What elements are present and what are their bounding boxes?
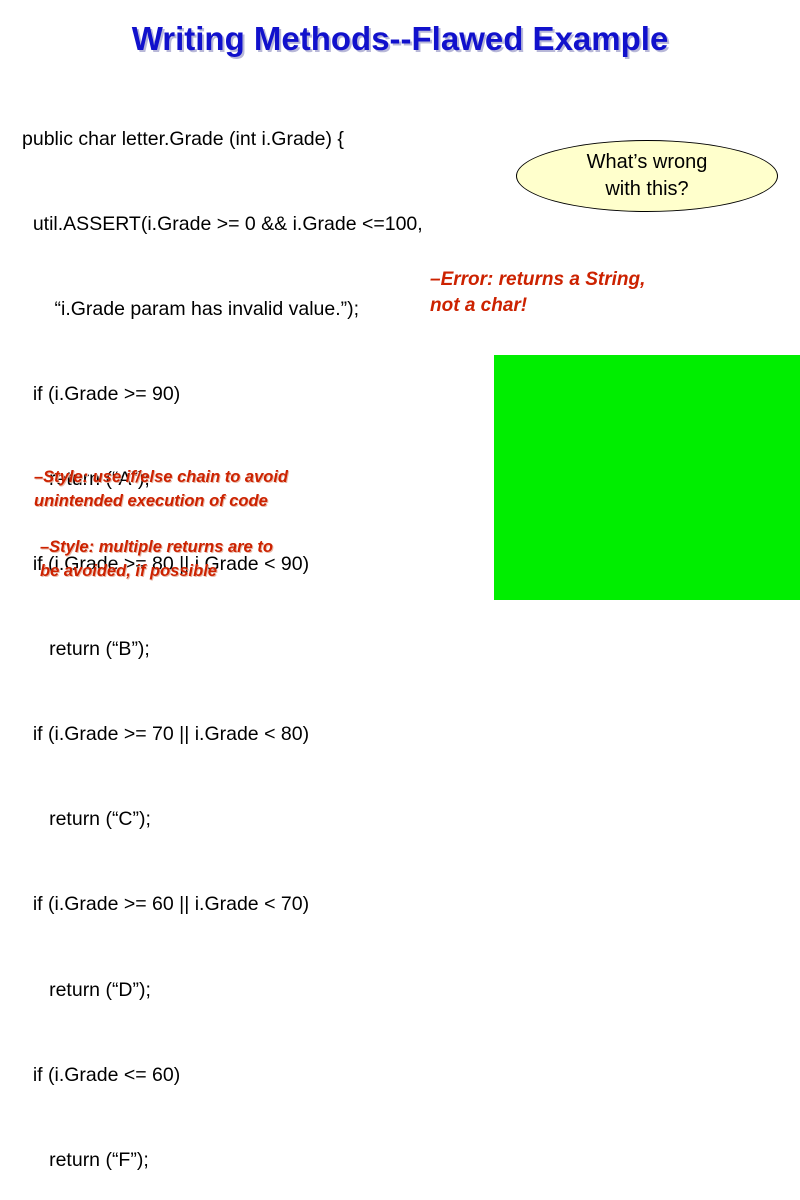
error-note-line-1: –Error: returns a String, xyxy=(430,267,790,293)
question-callout: What’s wrong with this? xyxy=(516,140,778,212)
error-note-line-2: not a char! xyxy=(430,293,790,319)
code-block: public char letter.Grade (int i.Grade) {… xyxy=(22,68,502,1200)
style-note-1-line-2: unintended execution of code xyxy=(34,490,434,514)
code-line: util.ASSERT(i.Grade >= 0 && i.Grade <=10… xyxy=(22,210,502,238)
code-line: if (i.Grade <= 60) xyxy=(22,1061,502,1089)
code-line: if (i.Grade >= 70 || i.Grade < 80) xyxy=(22,720,502,748)
style-note-2: –Style: multiple returns are to be avoid… xyxy=(40,536,440,584)
style-note-1-line-1: –Style: use if/else chain to avoid xyxy=(34,466,434,490)
code-line: return (“B”); xyxy=(22,635,502,663)
error-note: –Error: returns a String, not a char! xyxy=(430,267,790,318)
code-line: if (i.Grade >= 60 || i.Grade < 70) xyxy=(22,890,502,918)
style-note-1: –Style: use if/else chain to avoid unint… xyxy=(34,466,434,514)
slide: Writing Methods--Flawed Example public c… xyxy=(0,0,800,600)
green-placeholder-box xyxy=(494,355,800,600)
callout-line-1: What’s wrong xyxy=(587,149,708,176)
code-line: if (i.Grade >= 90) xyxy=(22,380,502,408)
style-note-2-line-1: –Style: multiple returns are to xyxy=(40,536,440,560)
code-line: return (“D”); xyxy=(22,976,502,1004)
code-line: return (“F”); xyxy=(22,1146,502,1174)
code-line: public char letter.Grade (int i.Grade) { xyxy=(22,125,502,153)
style-note-2-line-2: be avoided, if possible xyxy=(40,560,440,584)
callout-line-2: with this? xyxy=(605,176,688,203)
code-line: return (“C”); xyxy=(22,805,502,833)
page-title: Writing Methods--Flawed Example xyxy=(0,20,800,58)
